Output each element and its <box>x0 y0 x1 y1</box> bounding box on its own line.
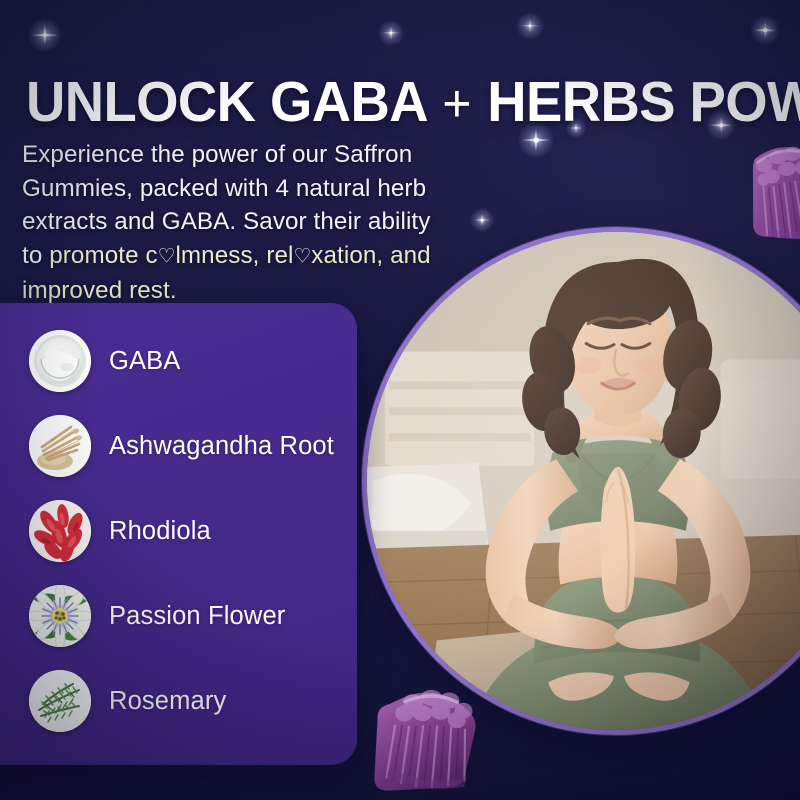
ingredient-label: Rhodiola <box>109 517 211 546</box>
list-item[interactable]: GABA <box>29 330 349 392</box>
ingredient-label: Rosemary <box>109 687 226 716</box>
highlight-calmness-post: lmness, <box>175 242 259 269</box>
meditating-woman-photo <box>367 232 800 730</box>
ingredient-label: GABA <box>109 347 180 376</box>
heart-icon: ♡ <box>294 246 312 268</box>
gaba-powder-icon <box>29 330 91 392</box>
rosemary-sprig-icon <box>29 670 91 732</box>
product-promo-poster: UNLOCK GABA + HERBS POWER Experience the… <box>0 0 800 800</box>
ingredient-label: Ashwagandha Root <box>109 432 334 461</box>
ingredient-list: GABA <box>29 330 349 755</box>
list-item[interactable]: Rhodiola <box>29 500 349 562</box>
list-item[interactable]: Ashwagandha Root <box>29 415 349 477</box>
gummy-bottom-left <box>363 673 499 800</box>
headline-plus-symbol: + <box>440 75 472 133</box>
heart-icon: ♡ <box>158 246 176 268</box>
page-title: UNLOCK GABA + HERBS POWER <box>26 73 744 133</box>
ashwagandha-root-icon <box>29 415 91 477</box>
highlight-calmness-pre: promote c <box>49 242 157 269</box>
headline-part-2: HERBS POWER <box>487 70 800 134</box>
ingredient-label: Passion Flower <box>109 602 285 631</box>
passion-flower-icon <box>29 585 91 647</box>
rhodiola-flower-icon <box>29 500 91 562</box>
highlight-relaxation-pre: rel <box>266 242 293 269</box>
ingredient-card: GABA <box>0 303 357 765</box>
list-item[interactable]: Passion Flower <box>29 585 349 647</box>
list-item[interactable]: Rosemary <box>29 670 349 732</box>
hero-photo-circle <box>362 227 800 735</box>
headline-part-1: UNLOCK GABA <box>26 70 426 134</box>
